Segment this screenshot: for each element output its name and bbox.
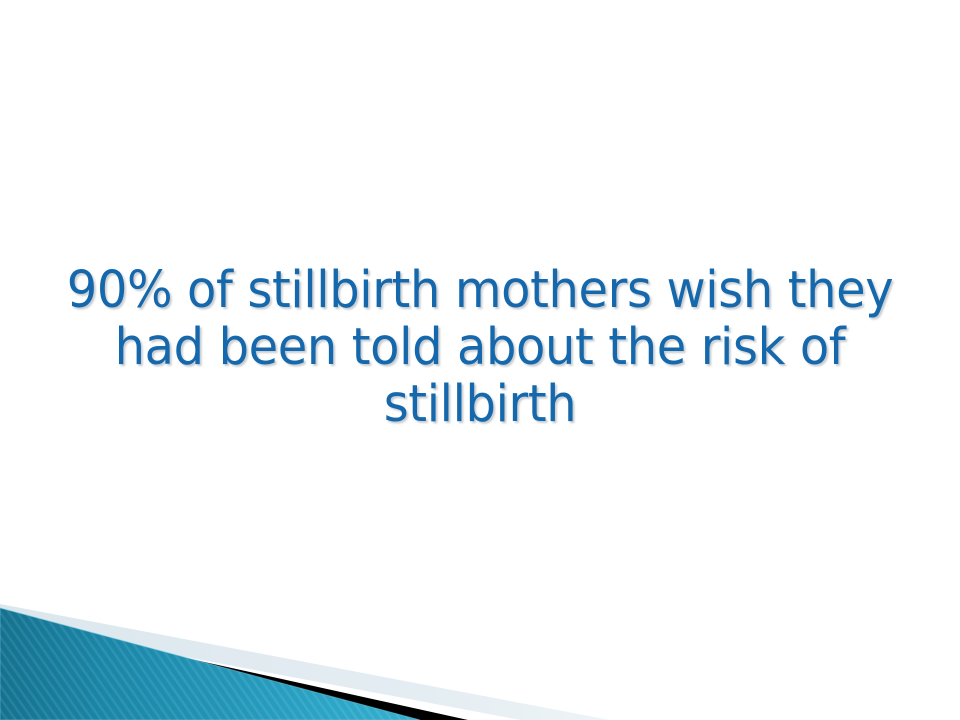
pale-band-shape	[0, 604, 610, 720]
teal-band-shape	[0, 608, 420, 720]
slide-canvas: 90% of stillbirth mothers wish they had …	[0, 0, 960, 720]
headline-block: 90% of stillbirth mothers wish they had …	[40, 262, 920, 433]
black-band-shape	[0, 617, 468, 720]
bottom-left-decoration	[0, 590, 700, 720]
page-title: 90% of stillbirth mothers wish they had …	[66, 262, 893, 433]
